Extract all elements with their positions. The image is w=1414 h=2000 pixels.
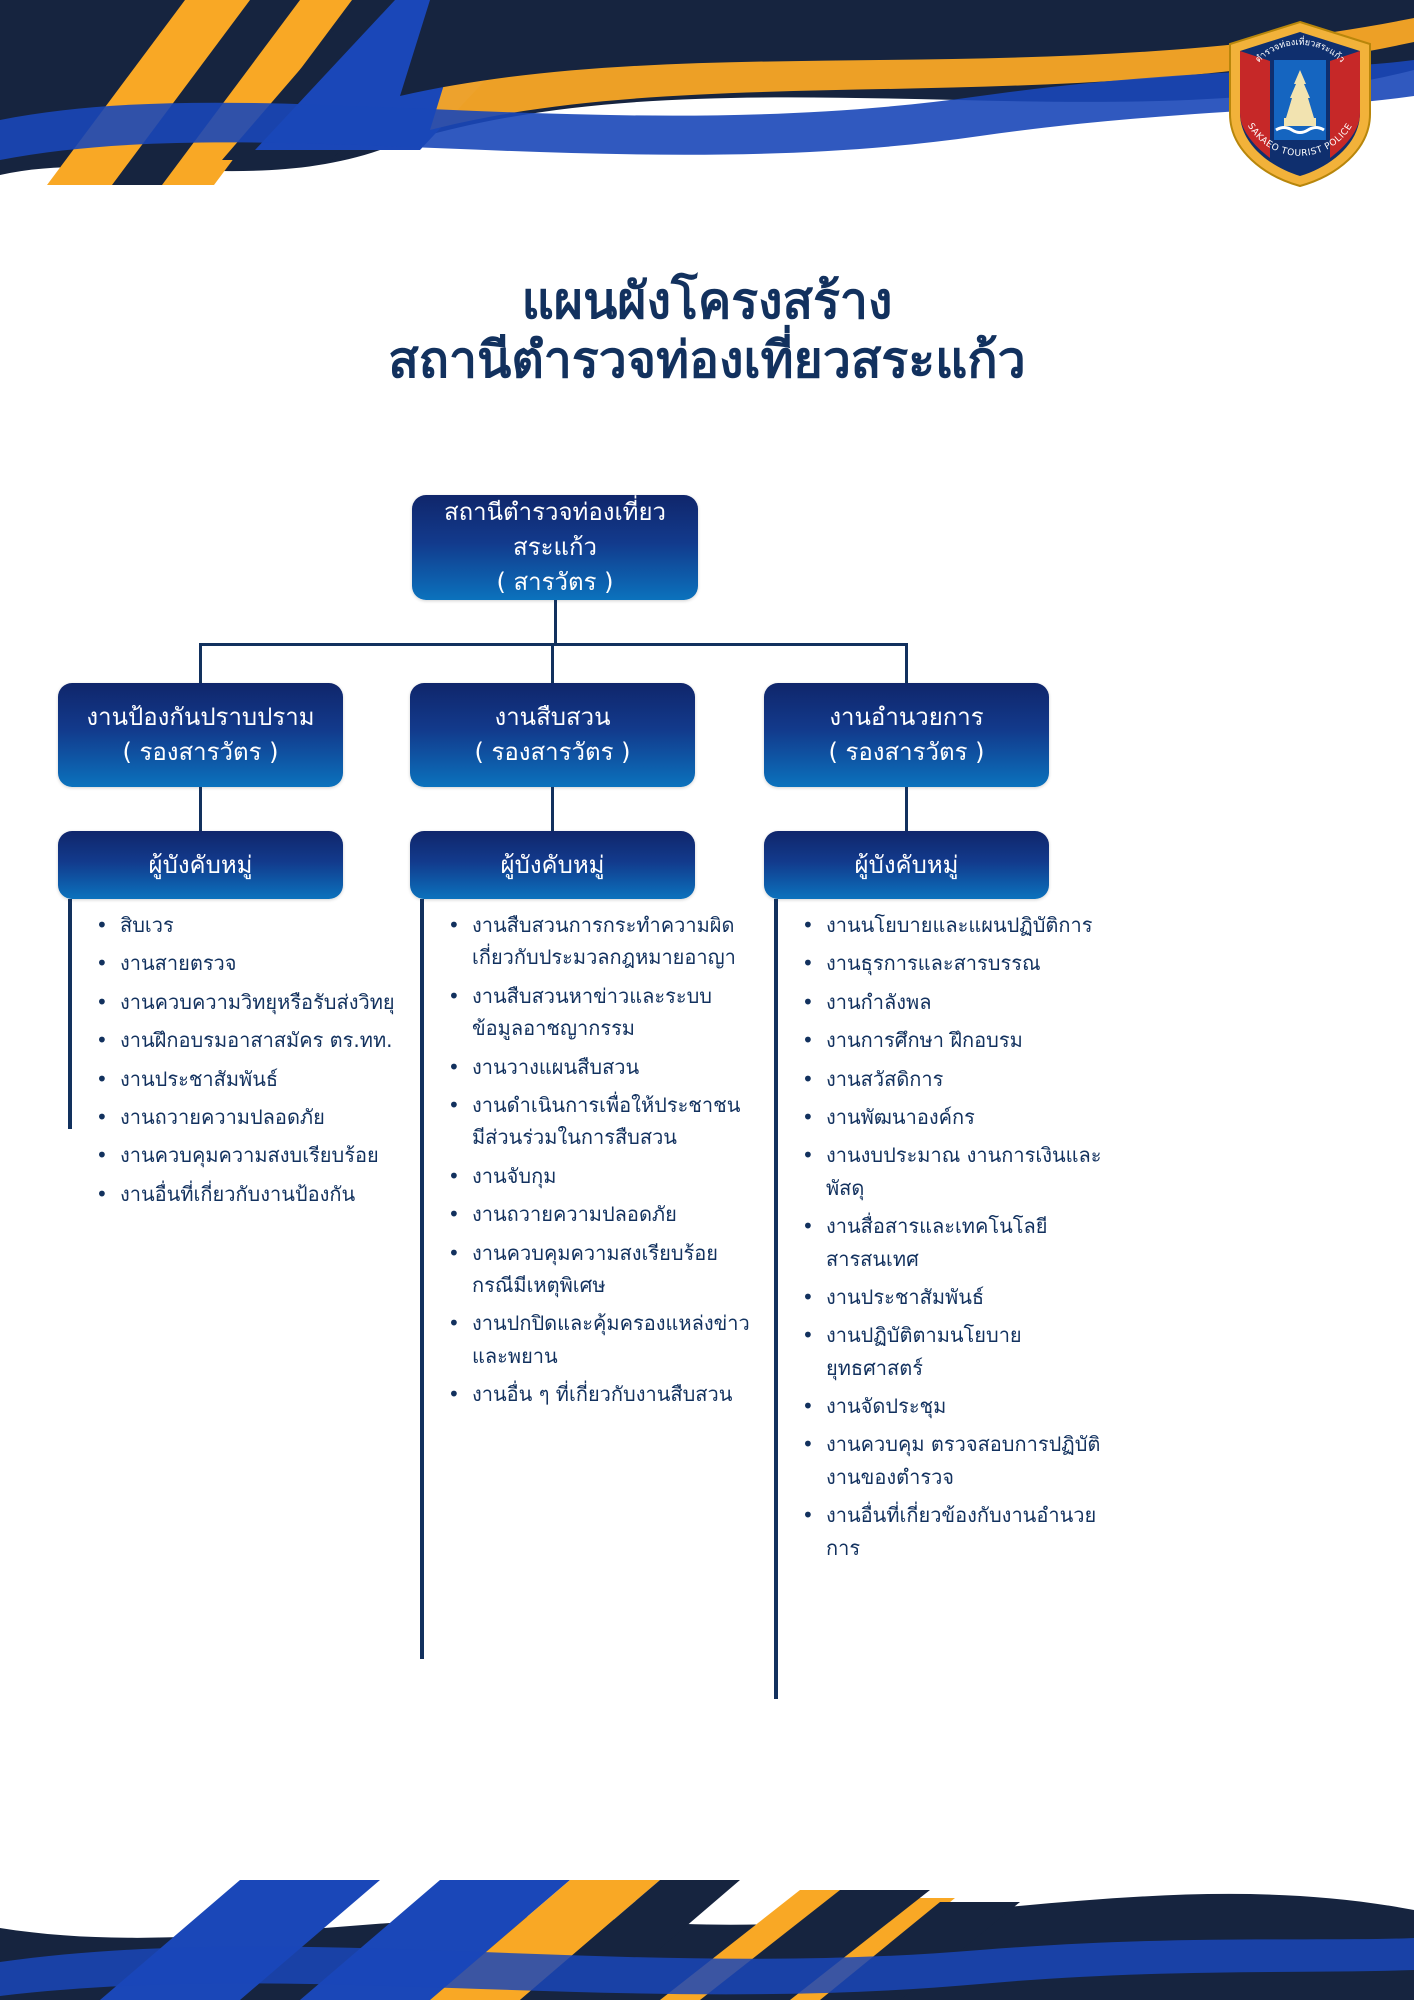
list-item: งานควบคุมความสงเรียบร้อยกรณีมีเหตุพิเศษ xyxy=(430,1237,750,1302)
list-item: งานพัฒนาองค์กร xyxy=(784,1101,1104,1133)
list-item: งานควบคุมความสงบเรียบร้อย xyxy=(78,1139,398,1171)
node-administration-squad-label: ผู้บังคับหมู่ xyxy=(855,848,959,883)
top-ribbon-graphic xyxy=(0,0,1414,210)
connector-branch-center xyxy=(551,643,554,683)
node-root-station: สถานีตำรวจท่องเที่ยวสระแก้ว ( สารวัตร ) xyxy=(412,495,698,600)
node-administration-subtitle: ( รองสารวัตร ) xyxy=(829,735,985,770)
title-line-2: สถานีตำรวจท่องเที่ยวสระแก้ว xyxy=(0,331,1414,390)
connector-prevention-stem xyxy=(199,787,202,831)
poster-page: ตำรวจท่องเที่ยวสระแก้ว SAKAEO TOURIST PO… xyxy=(0,0,1414,2000)
tourist-police-emblem: ตำรวจท่องเที่ยวสระแก้ว SAKAEO TOURIST PO… xyxy=(1224,18,1376,190)
node-prevention-title: งานป้องกันปราบปราม xyxy=(86,700,314,735)
connector-administration-stem xyxy=(905,787,908,831)
list-item: งานจับกุม xyxy=(430,1160,750,1192)
node-root-subtitle: ( สารวัตร ) xyxy=(497,565,614,600)
list-item: งานสืบสวนหาข่าวและระบบข้อมูลอาชญากรรม xyxy=(430,980,750,1045)
list-item: งานนโยบายและแผนปฏิบัติการ xyxy=(784,909,1104,941)
connector-root-stem xyxy=(554,600,557,645)
top-ribbon-banner xyxy=(0,0,1414,210)
emblem-graphic: ตำรวจท่องเที่ยวสระแก้ว SAKAEO TOURIST PO… xyxy=(1224,18,1376,190)
list-item: งานอื่นที่เกี่ยวข้องกับงานอำนวยการ xyxy=(784,1499,1104,1564)
node-prevention-subtitle: ( รองสารวัตร ) xyxy=(123,735,279,770)
node-prevention-squad-leader: ผู้บังคับหมู่ xyxy=(58,831,343,899)
node-root-title: สถานีตำรวจท่องเที่ยวสระแก้ว xyxy=(422,495,688,565)
duty-list-prevention: สิบเวร งานสายตรวจ งานควบความวิทยุหรือรับ… xyxy=(68,899,398,1129)
list-item: งานถวายความปลอดภัย xyxy=(78,1101,398,1133)
list-item: งานประชาสัมพันธ์ xyxy=(78,1063,398,1095)
node-administration-squad-leader: ผู้บังคับหมู่ xyxy=(764,831,1049,899)
org-chart: สถานีตำรวจท่องเที่ยวสระแก้ว ( สารวัตร ) … xyxy=(0,495,1414,1895)
node-prevention-squad-label: ผู้บังคับหมู่ xyxy=(149,848,253,883)
node-investigation-title: งานสืบสวน xyxy=(494,700,610,735)
list-item: งานปฏิบัติตามนโยบายยุทธศาสตร์ xyxy=(784,1319,1104,1384)
list-item: งานวางแผนสืบสวน xyxy=(430,1051,750,1083)
list-item: งานประชาสัมพันธ์ xyxy=(784,1281,1104,1313)
connector-branch-left xyxy=(199,643,202,683)
node-investigation-division: งานสืบสวน ( รองสารวัตร ) xyxy=(410,683,695,787)
list-item: งานอื่น ๆ ที่เกี่ยวกับงานสืบสวน xyxy=(430,1378,750,1410)
duty-list-investigation: งานสืบสวนการกระทำความผิดเกี่ยวกับประมวลก… xyxy=(420,899,750,1659)
duty-items-prevention: สิบเวร งานสายตรวจ งานควบความวิทยุหรือรับ… xyxy=(78,909,398,1210)
poster-title: แผนผังโครงสร้าง สถานีตำรวจท่องเที่ยวสระแ… xyxy=(0,272,1414,390)
list-item: งานการศึกษา ฝึกอบรม xyxy=(784,1024,1104,1056)
duty-items-administration: งานนโยบายและแผนปฏิบัติการ งานธุรการและสา… xyxy=(784,909,1104,1564)
list-item: งานควบคุม ตรวจสอบการปฏิบัติงานของตำรวจ xyxy=(784,1428,1104,1493)
list-item: งานกำลังพล xyxy=(784,986,1104,1018)
node-investigation-subtitle: ( รองสารวัตร ) xyxy=(475,735,631,770)
list-item: งานสื่อสารและเทคโนโลยีสารสนเทศ xyxy=(784,1210,1104,1275)
node-investigation-squad-leader: ผู้บังคับหมู่ xyxy=(410,831,695,899)
list-item: งานสืบสวนการกระทำความผิดเกี่ยวกับประมวลก… xyxy=(430,909,750,974)
connector-branch-right xyxy=(905,643,908,683)
node-investigation-squad-label: ผู้บังคับหมู่ xyxy=(501,848,605,883)
list-item: งานควบความวิทยุหรือรับส่งวิทยุ xyxy=(78,986,398,1018)
list-item: งานดำเนินการเพื่อให้ประชาชนมีส่วนร่วมในก… xyxy=(430,1089,750,1154)
list-item: สิบเวร xyxy=(78,909,398,941)
list-item: งานปกปิดและคุ้มครองแหล่งข่าวและพยาน xyxy=(430,1307,750,1372)
node-administration-title: งานอำนวยการ xyxy=(829,700,983,735)
list-item: งานอื่นที่เกี่ยวกับงานป้องกัน xyxy=(78,1178,398,1210)
duty-list-administration: งานนโยบายและแผนปฏิบัติการ งานธุรการและสา… xyxy=(774,899,1104,1699)
node-prevention-division: งานป้องกันปราบปราม ( รองสารวัตร ) xyxy=(58,683,343,787)
connector-investigation-stem xyxy=(551,787,554,831)
list-item: งานธุรการและสารบรรณ xyxy=(784,947,1104,979)
node-administration-division: งานอำนวยการ ( รองสารวัตร ) xyxy=(764,683,1049,787)
list-item: งานงบประมาณ งานการเงินและพัสดุ xyxy=(784,1139,1104,1204)
title-line-1: แผนผังโครงสร้าง xyxy=(0,272,1414,331)
list-item: งานถวายความปลอดภัย xyxy=(430,1198,750,1230)
list-item: งานสวัสดิการ xyxy=(784,1063,1104,1095)
list-item: งานฝึกอบรมอาสาสมัคร ตร.ทท. xyxy=(78,1024,398,1056)
list-item: งานจัดประชุม xyxy=(784,1390,1104,1422)
list-item: งานสายตรวจ xyxy=(78,947,398,979)
duty-items-investigation: งานสืบสวนการกระทำความผิดเกี่ยวกับประมวลก… xyxy=(430,909,750,1410)
